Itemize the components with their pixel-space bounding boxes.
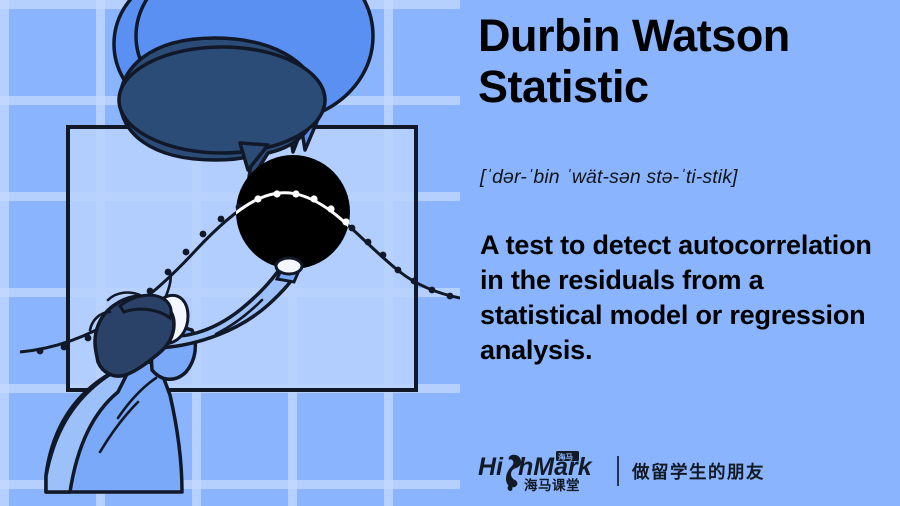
illustration-panel (0, 0, 460, 506)
logo-badge: 海马 (556, 451, 579, 462)
logo-divider (617, 456, 619, 486)
logo-tagline: 做留学生的朋友 (632, 459, 765, 484)
pronunciation-text: [ˈdər-ˈbin ˈwät-sən stə-ˈti-stik] (480, 166, 890, 189)
page-title: Durbin Watson Statistic (478, 10, 888, 113)
logo-badge-text: 海马 (558, 452, 573, 462)
brand-logo-lockup: Hi hMark 海马 海马课堂 (478, 448, 765, 494)
logo-chinese-name: 海马课堂 (524, 477, 580, 493)
infographic-card: Durbin Watson Statistic [ˈdər-ˈbin ˈwät-… (0, 0, 900, 506)
definition-text: A test to detect autocorrelation in the … (480, 228, 880, 368)
logo-wordmark-part-2: hMark (518, 453, 593, 481)
highmark-logo: Hi hMark 海马 海马课堂 (478, 448, 606, 494)
logo-wordmark-part-1: Hi (478, 453, 504, 481)
text-panel: Durbin Watson Statistic [ˈdər-ˈbin ˈwät-… (470, 0, 900, 506)
